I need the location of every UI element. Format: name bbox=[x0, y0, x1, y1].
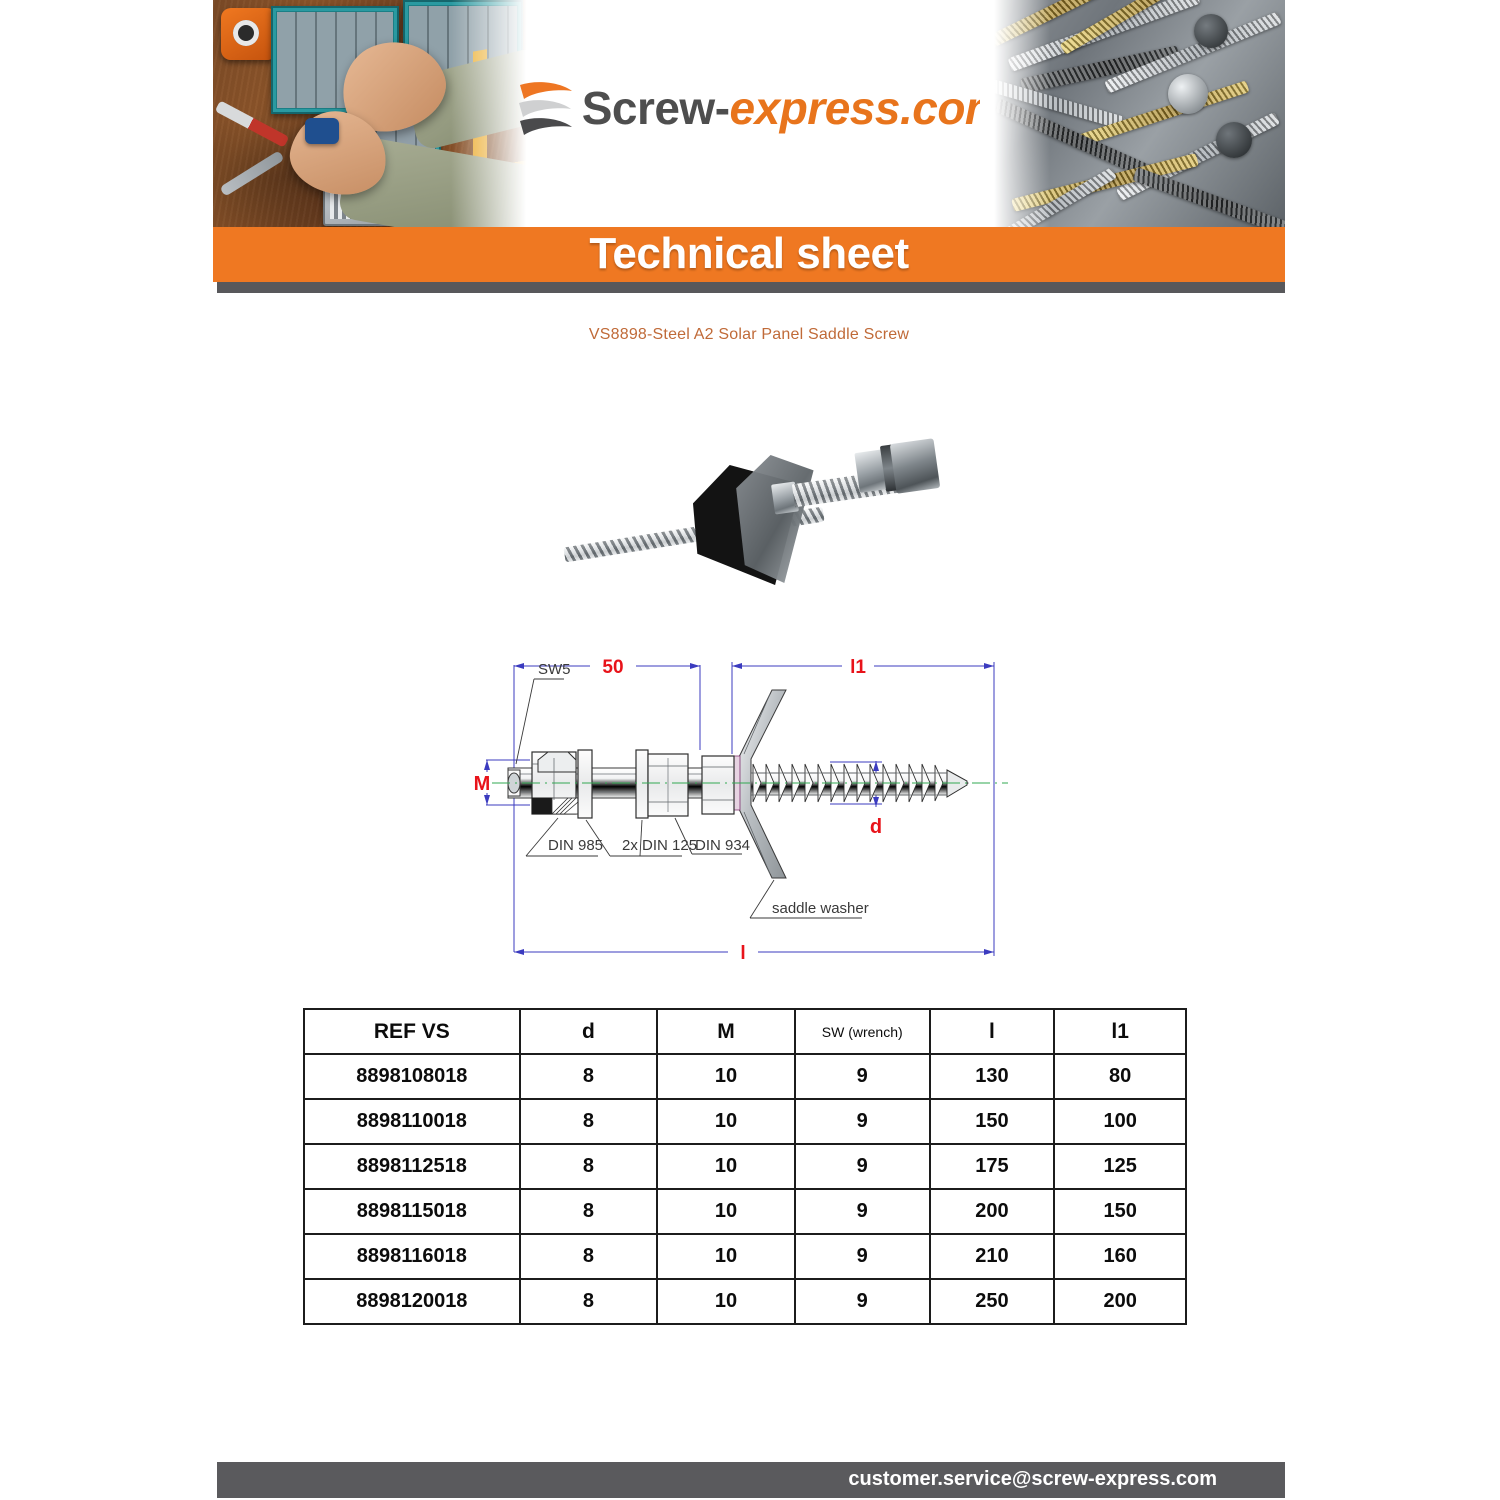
table-row[interactable]: 8898112518 8 10 9 175 125 bbox=[304, 1144, 1186, 1189]
din125-washer-1 bbox=[578, 750, 592, 818]
cell-l: 200 bbox=[930, 1189, 1055, 1234]
cell-l: 175 bbox=[930, 1144, 1055, 1189]
cell-l1: 100 bbox=[1054, 1099, 1186, 1144]
callout-label-sw5: SW5 bbox=[538, 661, 571, 678]
header-photo-screw-pile bbox=[980, 0, 1285, 227]
cell-m: 10 bbox=[657, 1099, 795, 1144]
callout-label-din125: 2x DIN 125 bbox=[622, 837, 697, 854]
dimension-label-50: 50 bbox=[602, 657, 623, 678]
cell-d: 8 bbox=[520, 1054, 658, 1099]
logo-text-primary: Screw- bbox=[582, 82, 730, 134]
cell-ref: 8898116018 bbox=[304, 1234, 520, 1279]
din934-nut-middle bbox=[648, 754, 688, 816]
cell-sw: 9 bbox=[795, 1099, 930, 1144]
cell-sw: 9 bbox=[795, 1279, 930, 1324]
technical-drawing: 50 l1 l bbox=[470, 632, 1010, 972]
cell-l1: 150 bbox=[1054, 1189, 1186, 1234]
cell-m: 10 bbox=[657, 1144, 795, 1189]
cell-d: 8 bbox=[520, 1099, 658, 1144]
cell-sw: 9 bbox=[795, 1234, 930, 1279]
cell-l1: 160 bbox=[1054, 1234, 1186, 1279]
cell-m: 10 bbox=[657, 1054, 795, 1099]
cell-l1: 80 bbox=[1054, 1054, 1186, 1099]
column-header-l1[interactable]: l1 bbox=[1054, 1009, 1186, 1054]
cell-ref: 8898120018 bbox=[304, 1279, 520, 1324]
banner-underline-bar bbox=[217, 282, 1285, 293]
cap-nut bbox=[890, 438, 941, 494]
header-banner: Screw-express.com bbox=[213, 0, 1285, 227]
product-photo bbox=[545, 415, 965, 605]
dimension-label-M: M bbox=[474, 773, 491, 795]
handheld-device-icon bbox=[305, 118, 339, 144]
cell-d: 8 bbox=[520, 1279, 658, 1324]
screw-express-logo[interactable]: Screw-express.com bbox=[518, 77, 1006, 139]
drawing-svg: 50 l1 l bbox=[470, 632, 1010, 972]
cell-ref: 8898108018 bbox=[304, 1054, 520, 1099]
specification-table: REF VS d M SW (wrench) l l1 8898108018 8… bbox=[303, 1008, 1187, 1325]
cell-ref: 8898112518 bbox=[304, 1144, 520, 1189]
cell-m: 10 bbox=[657, 1234, 795, 1279]
cell-l1: 125 bbox=[1054, 1144, 1186, 1189]
technical-sheet-banner: Technical sheet bbox=[213, 227, 1285, 282]
callout-label-din934: DIN 934 bbox=[695, 837, 750, 854]
page-title: VS8898-Steel A2 Solar Panel Saddle Screw bbox=[213, 326, 1285, 344]
dimension-label-l: l bbox=[740, 943, 745, 964]
cell-sw: 9 bbox=[795, 1189, 930, 1234]
cell-sw: 9 bbox=[795, 1144, 930, 1189]
cell-l: 250 bbox=[930, 1279, 1055, 1324]
callout-label-din985: DIN 985 bbox=[548, 837, 603, 854]
technical-sheet-page: Screw-express.com bbox=[0, 0, 1500, 1500]
banner-title: Technical sheet bbox=[213, 229, 1285, 279]
cell-l: 130 bbox=[930, 1054, 1055, 1099]
table-row[interactable]: 8898120018 8 10 9 250 200 bbox=[304, 1279, 1186, 1324]
dimension-label-d: d bbox=[870, 816, 882, 838]
triple-swoosh-icon bbox=[518, 77, 574, 139]
column-header-l[interactable]: l bbox=[930, 1009, 1055, 1054]
cell-ref: 8898110018 bbox=[304, 1099, 520, 1144]
cell-sw: 9 bbox=[795, 1054, 930, 1099]
cell-d: 8 bbox=[520, 1144, 658, 1189]
tape-measure-icon bbox=[221, 8, 277, 60]
table-row[interactable]: 8898108018 8 10 9 130 80 bbox=[304, 1054, 1186, 1099]
logo-text-secondary: express.com bbox=[730, 82, 1006, 134]
column-header-sw[interactable]: SW (wrench) bbox=[795, 1009, 930, 1054]
table-row[interactable]: 8898110018 8 10 9 150 100 bbox=[304, 1099, 1186, 1144]
cell-l: 150 bbox=[930, 1099, 1055, 1144]
header-photo-workbench bbox=[213, 0, 543, 227]
cell-ref: 8898115018 bbox=[304, 1189, 520, 1234]
din934-nut-right bbox=[702, 756, 734, 814]
column-header-d[interactable]: d bbox=[520, 1009, 658, 1054]
table-row[interactable]: 8898116018 8 10 9 210 160 bbox=[304, 1234, 1186, 1279]
column-header-m[interactable]: M bbox=[657, 1009, 795, 1054]
cell-m: 10 bbox=[657, 1189, 795, 1234]
footer-bar: customer.service@screw-express.com bbox=[217, 1462, 1285, 1498]
cell-d: 8 bbox=[520, 1234, 658, 1279]
cell-l: 210 bbox=[930, 1234, 1055, 1279]
dimension-label-l1: l1 bbox=[850, 657, 866, 678]
din125-washer-2 bbox=[636, 750, 648, 818]
callout-sw5 bbox=[516, 679, 564, 764]
table-header-row: REF VS d M SW (wrench) l l1 bbox=[304, 1009, 1186, 1054]
cell-m: 10 bbox=[657, 1279, 795, 1324]
callout-label-saddle-washer: saddle washer bbox=[772, 900, 869, 917]
table-row[interactable]: 8898115018 8 10 9 200 150 bbox=[304, 1189, 1186, 1234]
cell-l1: 200 bbox=[1054, 1279, 1186, 1324]
footer-email[interactable]: customer.service@screw-express.com bbox=[848, 1468, 1217, 1491]
logo-area: Screw-express.com bbox=[543, 0, 980, 227]
cell-d: 8 bbox=[520, 1189, 658, 1234]
column-header-ref[interactable]: REF VS bbox=[304, 1009, 520, 1054]
